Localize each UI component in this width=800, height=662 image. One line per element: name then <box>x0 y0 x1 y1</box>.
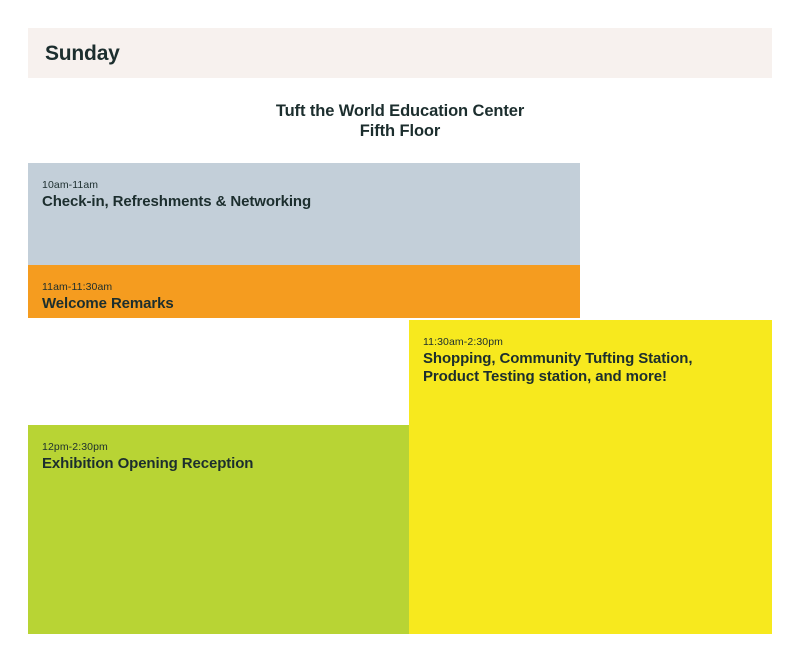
session-title: Check-in, Refreshments & Networking <box>42 193 566 211</box>
venue-heading: Tuft the World Education Center Fifth Fl… <box>0 101 800 141</box>
session-time: 12pm-2:30pm <box>42 441 395 454</box>
session-title: Shopping, Community Tufting Station, Pro… <box>423 350 738 386</box>
session-block-check-in[interactable]: 10am-11am Check-in, Refreshments & Netwo… <box>28 163 580 265</box>
session-time: 10am-11am <box>42 179 566 192</box>
schedule-canvas: Sunday Tuft the World Education Center F… <box>0 0 800 662</box>
venue-line-2: Fifth Floor <box>0 121 800 141</box>
day-header-band: Sunday <box>28 28 772 78</box>
day-title: Sunday <box>45 43 120 64</box>
venue-line-1: Tuft the World Education Center <box>0 101 800 121</box>
session-time: 11am-11:30am <box>42 281 566 294</box>
session-title: Welcome Remarks <box>42 295 566 313</box>
session-time: 11:30am-2:30pm <box>423 336 758 349</box>
session-block-welcome-remarks[interactable]: 11am-11:30am Welcome Remarks <box>28 265 580 318</box>
session-title: Exhibition Opening Reception <box>42 455 395 473</box>
session-block-exhibition-reception[interactable]: 12pm-2:30pm Exhibition Opening Reception <box>28 425 409 634</box>
session-block-shopping[interactable]: 11:30am-2:30pm Shopping, Community Tufti… <box>409 320 772 634</box>
